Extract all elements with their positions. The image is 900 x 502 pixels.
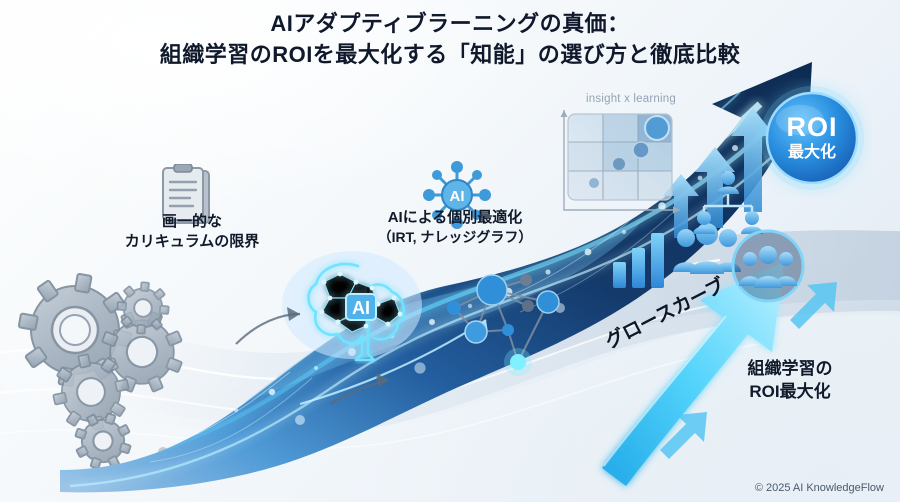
svg-text:AI: AI (352, 298, 370, 318)
insight-learning-chart (552, 108, 684, 220)
label-ai-line2: （IRT, ナレッジグラフ） (330, 228, 580, 247)
footer-copyright: © 2025 AI KnowledgeFlow (755, 482, 884, 494)
label-ai-line1: AIによる個別最適化 (330, 208, 580, 228)
label-roi-line2: ROI最大化 (710, 381, 870, 404)
ai-brain-icon: AI (300, 254, 420, 364)
label-roi-maximization: 組織学習の ROI最大化 (710, 358, 870, 404)
label-uniform-line2: カリキュラムの限界 (92, 232, 292, 252)
svg-text:AI: AI (450, 188, 465, 205)
chart-caption: insight x learning (556, 93, 706, 105)
label-ai-personalization: AIによる個別最適化 （IRT, ナレッジグラフ） (330, 208, 580, 247)
roi-badge (752, 78, 872, 198)
knowledge-graph-icon (440, 258, 595, 383)
label-uniform-curriculum: 画一的な カリキュラムの限界 (92, 212, 292, 253)
bar-chart-icon (610, 228, 670, 290)
infographic-canvas: AI (0, 0, 900, 502)
label-uniform-line1: 画一的な (92, 212, 292, 232)
team-circle-icon (730, 228, 806, 304)
label-roi-line1: 組織学習の (710, 358, 870, 381)
